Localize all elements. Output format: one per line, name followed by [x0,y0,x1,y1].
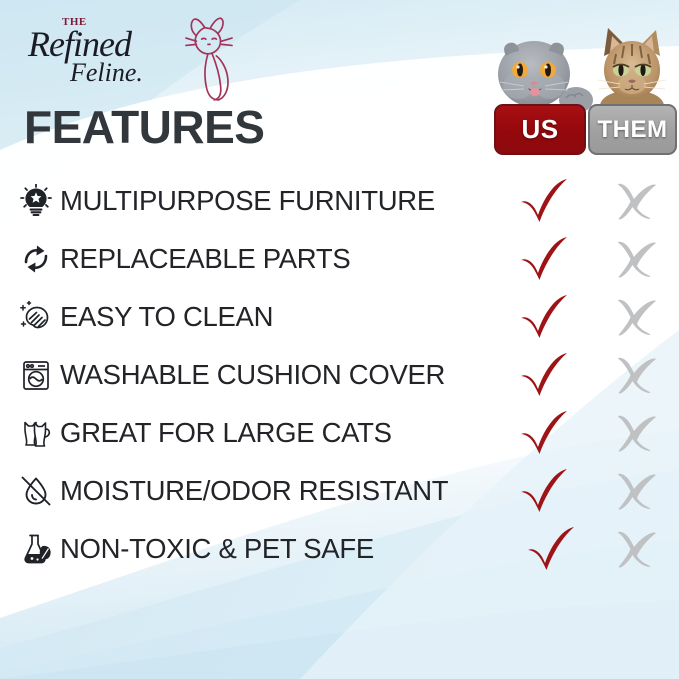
feature-row: REPLACEABLE PARTS [0,230,679,288]
us-check-mark-icon [517,294,571,340]
them-x-mark-icon [608,468,662,514]
them-x-mark-icon [608,236,662,282]
no-water-droplet-icon [18,473,54,509]
feature-row: NON-TOXIC & PET SAFE [0,520,679,578]
them-x-mark-icon [608,294,662,340]
us-check-mark-icon [517,178,571,224]
feature-label: REPLACEABLE PARTS [60,243,350,275]
us-badge[interactable]: US [494,104,586,155]
cat-silhouette-icon [124,14,294,102]
us-check-mark-icon [517,410,571,456]
us-check-mark-icon [517,236,571,282]
feature-label: MOISTURE/ODOR RESISTANT [60,475,448,507]
feature-row: WASHABLE CUSHION COVER [0,346,679,404]
features-list: MULTIPURPOSE FURNITURE [0,172,679,578]
feature-label: EASY TO CLEAN [60,301,273,333]
lightbulb-star-icon [18,183,54,219]
wiping-hand-icon [18,299,54,335]
them-cat-photo [592,22,672,110]
feature-label: WASHABLE CUSHION COVER [60,359,445,391]
us-check-mark-icon [517,352,571,398]
feature-label: MULTIPURPOSE FURNITURE [60,185,435,217]
them-x-mark-icon [608,526,662,572]
comparison-infographic: THE Refined Feline. [0,0,679,679]
us-check-mark-icon [524,526,578,572]
them-x-mark-icon [608,178,662,224]
washing-machine-icon [18,357,54,393]
us-check-mark-icon [517,468,571,514]
them-x-mark-icon [608,410,662,456]
us-cat-photo [488,26,596,112]
feature-label: NON-TOXIC & PET SAFE [60,533,374,565]
flask-leaf-icon [18,531,54,567]
feature-row: MOISTURE/ODOR RESISTANT [0,462,679,520]
feature-row: GREAT FOR LARGE CATS [0,404,679,462]
them-badge[interactable]: THEM [588,104,677,155]
recycle-arrows-icon [18,241,54,277]
feature-row: EASY TO CLEAN [0,288,679,346]
feature-row: MULTIPURPOSE FURNITURE [0,172,679,230]
brand-logo: THE Refined Feline. [18,10,188,98]
page-title: FEATURES [24,104,265,150]
two-cats-icon [18,415,54,451]
feature-label: GREAT FOR LARGE CATS [60,417,392,449]
them-x-mark-icon [608,352,662,398]
